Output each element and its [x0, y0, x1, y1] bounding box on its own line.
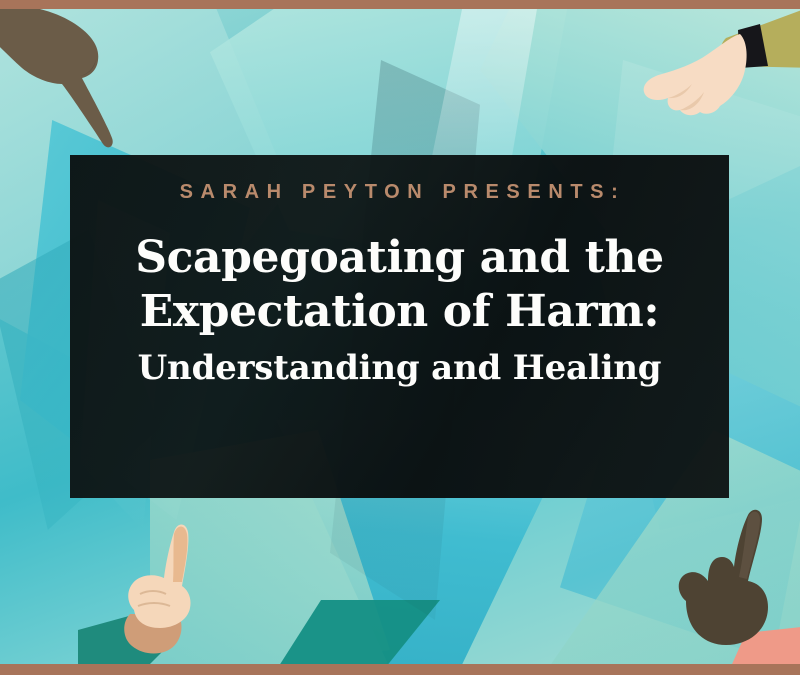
presenter-eyebrow: Sarah Peyton Presents: — [180, 182, 626, 202]
title-block: Scapegoating and the Expectation of Harm… — [70, 232, 729, 388]
title-line-1: Scapegoating and the — [70, 232, 729, 284]
top-border-rule — [0, 0, 800, 9]
bottom-border-rule — [0, 664, 800, 675]
pointing-hand-top-left-icon — [0, 4, 184, 154]
poster-canvas: Sarah Peyton Presents: Scapegoating and … — [0, 0, 800, 675]
pointing-hand-bottom-right-icon — [650, 505, 800, 673]
pointing-hand-top-right-icon — [628, 0, 800, 134]
pointing-hand-bottom-left-icon — [78, 518, 258, 675]
title-line-2: Expectation of Harm: — [70, 286, 729, 338]
title-line-3: Understanding and Healing — [70, 348, 729, 388]
title-panel: Sarah Peyton Presents: Scapegoating and … — [70, 155, 729, 498]
